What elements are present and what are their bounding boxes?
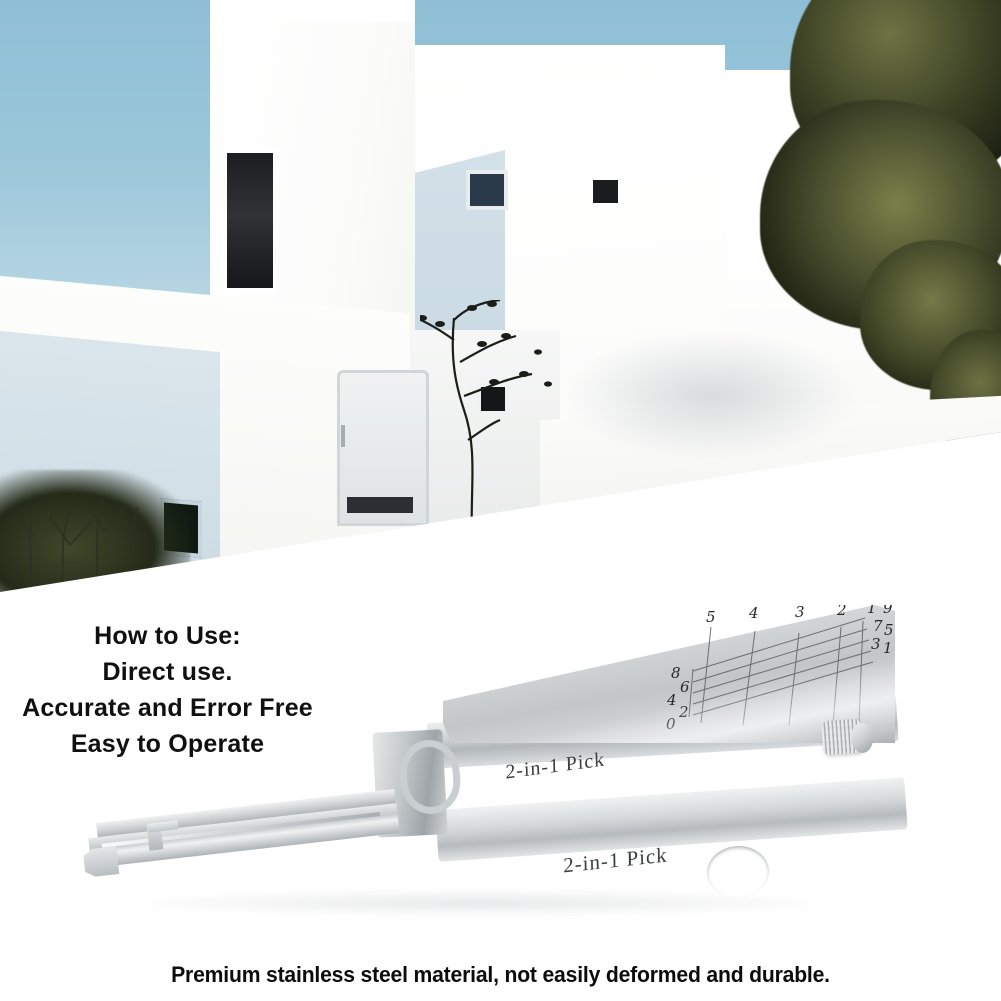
scale-label-top-1: 1 — [867, 605, 877, 617]
hero-photo — [0, 0, 1001, 600]
wall-shadow — [560, 330, 860, 460]
scale-label-top-3: 3 — [795, 605, 805, 621]
scale-label-top-4: 4 — [748, 605, 759, 622]
product-infographic: How to Use: Direct use. Accurate and Err… — [0, 0, 1001, 1001]
building-tower-roof-slope — [210, 0, 415, 22]
scale-label-right-9: 9 — [883, 605, 893, 617]
tool-lower-arm — [435, 777, 907, 862]
scale-label-right-3: 3 — [871, 635, 881, 653]
scale-label-right-1: 1 — [883, 639, 893, 657]
window-tall — [222, 148, 278, 293]
product-tool-image: 8 6 4 2 0 5 4 3 2 1 9 7 5 3 1 — [0, 560, 1001, 960]
scale-label-right-5: 5 — [884, 621, 894, 639]
scale-label-right-7: 7 — [873, 617, 883, 635]
door-mat — [347, 497, 413, 513]
scale-label-left-4: 4 — [666, 691, 677, 709]
scale-label-left-6: 6 — [680, 678, 690, 696]
door-handle — [341, 425, 345, 447]
window-square-right — [588, 175, 623, 208]
scale-label-top-2: 2 — [836, 605, 847, 619]
bottom-caption: Premium stainless steel material, not ea… — [30, 962, 971, 988]
tool-pick-tip — [83, 846, 120, 878]
scale-label-left-2: 2 — [678, 703, 689, 721]
window-square-left — [466, 170, 508, 210]
scale-label-top-5: 5 — [706, 608, 716, 626]
scale-label-left-0: 0 — [666, 715, 676, 733]
climbing-vine — [420, 300, 560, 540]
